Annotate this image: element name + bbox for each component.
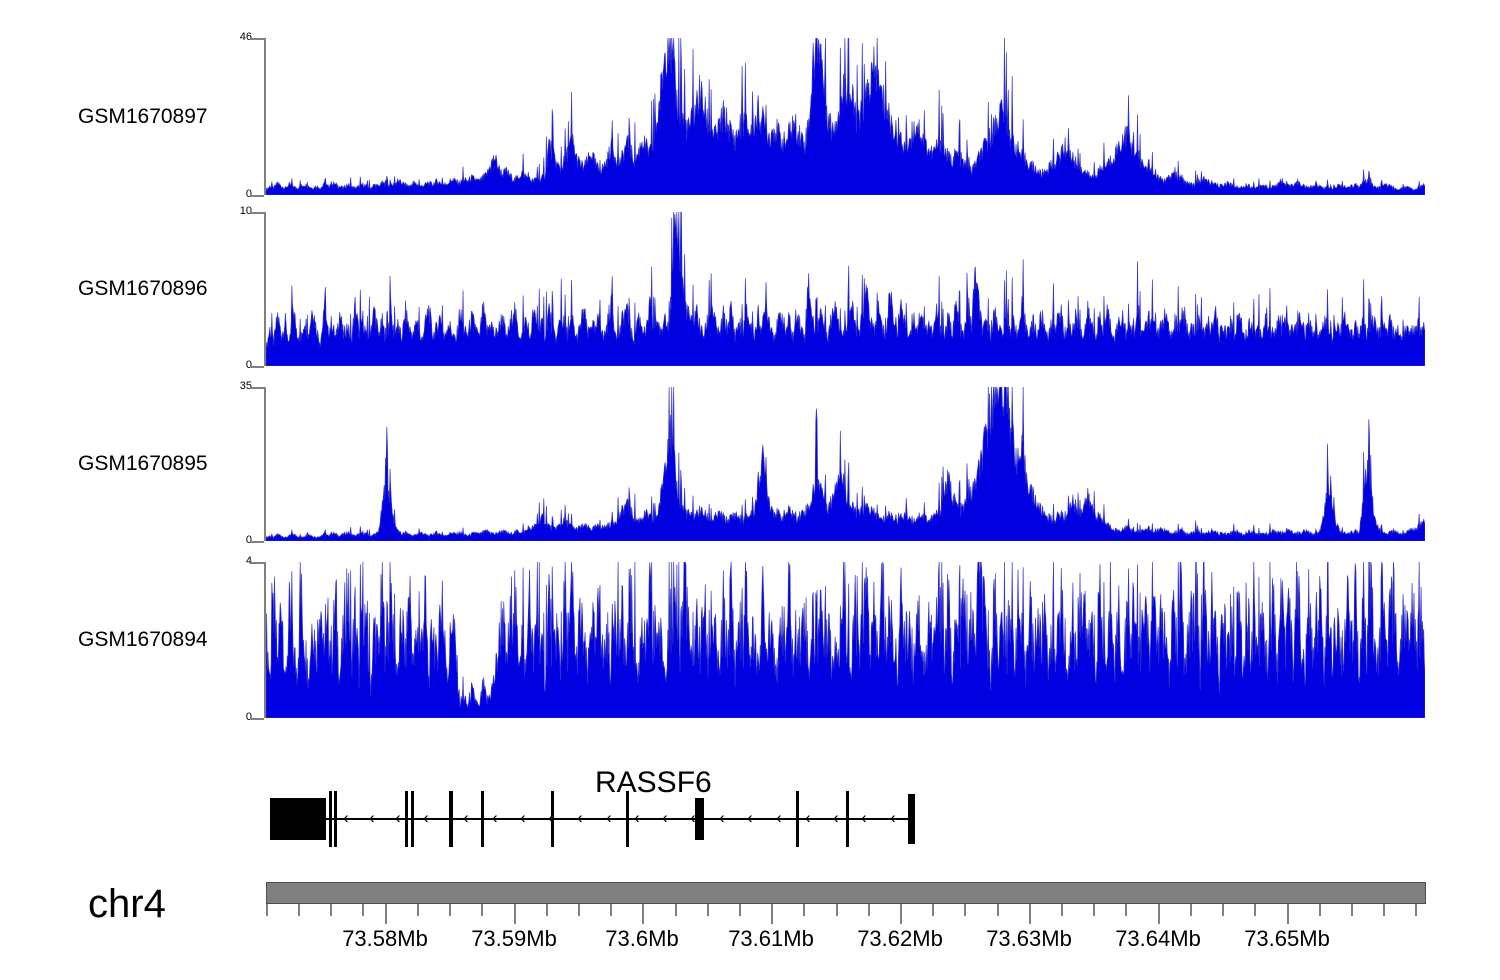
signal-plot[interactable] [266,38,1425,195]
strand-arrow-icon: ‹ [776,809,782,826]
signal-area [266,38,1425,195]
axis-minor-tick [1190,904,1192,916]
axis-minor-tick [932,904,934,916]
exon[interactable] [481,791,484,847]
y-axis-tick-min [250,718,264,720]
genome-browser: GSM1670897460GSM1670896100GSM1670895350G… [0,0,1500,980]
signal-area [266,562,1425,718]
strand-arrow-icon: ‹ [423,809,429,826]
strand-arrow-icon: ‹ [577,809,583,826]
y-axis-tick-max [250,212,264,214]
axis-minor-tick [997,904,999,916]
exon[interactable] [334,791,337,847]
axis-minor-tick [417,904,419,916]
axis-min-label: 0 [212,535,252,546]
axis-min-label: 0 [212,360,252,371]
exon[interactable] [449,791,453,847]
signal-area [266,387,1425,541]
y-axis-tick-max [250,562,264,564]
strand-arrow-icon: ‹ [861,809,867,826]
strand-arrow-icon: ‹ [719,809,725,826]
exon[interactable] [846,791,849,847]
track-label-GSM1670894: GSM1670894 [78,629,208,650]
y-axis-tick-min [250,366,264,368]
axis-tick-label: 73.64Mb [1115,928,1201,950]
strand-arrow-icon: ‹ [463,809,469,826]
axis-min-label: 0 [212,712,252,723]
axis-tick-label: 73.61Mb [728,928,814,950]
axis-minor-tick [1125,904,1127,916]
axis-minor-tick [610,904,612,916]
exon[interactable] [405,791,408,847]
axis-tick-label: 73.58Mb [342,928,428,950]
axis-max-label: 4 [212,556,252,567]
chromosome-axis: chr4 73.58Mb73.59Mb73.6Mb73.61Mb73.62Mb7… [0,872,1500,980]
axis-minor-tick [1254,904,1256,916]
axis-major-tick [1287,904,1289,924]
exon[interactable] [695,798,704,840]
axis-min-label: 0 [212,189,252,200]
strand-arrow-icon: ‹ [343,809,349,826]
axis-major-tick [900,904,902,924]
axis-minor-tick [1415,904,1417,916]
axis-max-label: 35 [212,381,252,392]
axis-major-tick [1029,904,1031,924]
axis-tick-label: 73.59Mb [471,928,557,950]
axis-minor-tick [836,904,838,916]
axis-minor-tick [298,904,300,916]
exon[interactable] [551,791,554,847]
gene-annotation-track[interactable]: RASSF6 ‹‹‹‹‹‹‹‹‹‹‹‹‹‹‹‹‹‹‹‹ [0,760,1500,870]
strand-arrow-icon: ‹ [890,809,896,826]
axis-minor-tick [266,904,268,916]
axis-minor-tick [868,904,870,916]
strand-arrow-icon: ‹ [369,809,375,826]
axis-minor-tick [803,904,805,916]
axis-minor-tick [546,904,548,916]
signal-plot[interactable] [266,212,1425,366]
y-axis-tick-max [250,387,264,389]
axis-major-tick [514,904,516,924]
axis-major-tick [1158,904,1160,924]
axis-minor-tick [449,904,451,916]
axis-minor-tick [1093,904,1095,916]
axis-minor-tick [1061,904,1063,916]
signal-plot[interactable] [266,387,1425,541]
strand-arrow-icon: ‹ [747,809,753,826]
axis-minor-tick [707,904,709,916]
axis-tick-label: 73.6Mb [605,928,678,950]
exon[interactable] [270,798,326,840]
strand-arrow-icon: ‹ [606,809,612,826]
axis-tick-label: 73.62Mb [857,928,943,950]
axis-minor-tick [578,904,580,916]
axis-minor-tick [1383,904,1385,916]
strand-arrow-icon: ‹ [805,809,811,826]
axis-minor-tick [1319,904,1321,916]
exon[interactable] [626,791,629,847]
strand-arrow-icon: ‹ [395,809,401,826]
y-axis-tick-min [250,541,264,543]
axis-max-label: 10 [212,206,252,217]
axis-major-tick [385,904,387,924]
exon[interactable] [908,794,915,844]
axis-minor-tick [964,904,966,916]
track-label-GSM1670895: GSM1670895 [78,453,208,474]
axis-tick-label: 73.65Mb [1244,928,1330,950]
axis-max-label: 46 [212,32,252,43]
axis-minor-tick [675,904,677,916]
axis-tick-label: 73.63Mb [986,928,1072,950]
chromosome-label: chr4 [88,884,166,924]
axis-minor-tick [1222,904,1224,916]
axis-minor-tick [330,904,332,916]
gene-label: RASSF6 [595,768,712,798]
gene-intron-line [282,818,915,820]
strand-arrow-icon: ‹ [833,809,839,826]
exon[interactable] [411,791,414,847]
strand-arrow-icon: ‹ [520,809,526,826]
axis-minor-tick [362,904,364,916]
y-axis-tick-max [250,38,264,40]
track-label-GSM1670896: GSM1670896 [78,278,208,299]
axis-minor-tick [481,904,483,916]
signal-area [266,212,1425,366]
strand-arrow-icon: ‹ [492,809,498,826]
exon[interactable] [329,791,332,847]
axis-major-tick [642,904,644,924]
strand-arrow-icon: ‹ [634,809,640,826]
axis-minor-tick [1351,904,1353,916]
exon[interactable] [796,791,799,847]
track-label-GSM1670897: GSM1670897 [78,106,208,127]
axis-major-tick [771,904,773,924]
signal-plot[interactable] [266,562,1425,718]
ideogram-bar[interactable] [266,882,1426,904]
strand-arrow-icon: ‹ [662,809,668,826]
axis-minor-tick [739,904,741,916]
y-axis-tick-min [250,195,264,197]
